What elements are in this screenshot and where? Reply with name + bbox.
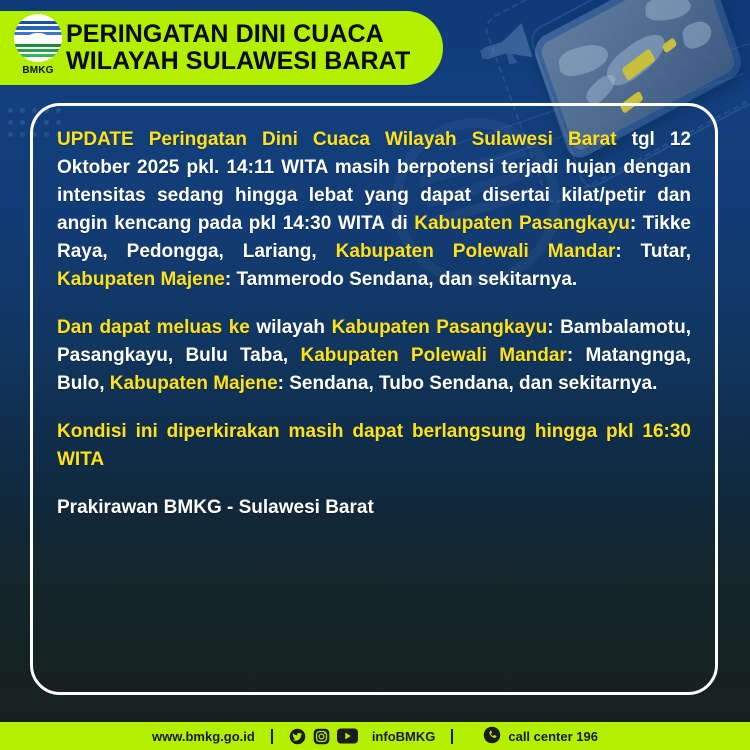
- twitter-icon[interactable]: [289, 728, 306, 745]
- map-shape: [603, 25, 671, 92]
- social-icon-group: [289, 728, 358, 745]
- footer-divider: [271, 729, 273, 744]
- areas-polewali-mandar: : Tutar,: [615, 241, 691, 262]
- instagram-icon[interactable]: [313, 728, 330, 745]
- map-highlight: [621, 48, 655, 81]
- bmkg-logo-text: BMKG: [10, 65, 66, 76]
- duration-note: Kondisi ini diperkirakan masih dapat ber…: [57, 418, 691, 474]
- region-polewali-mandar: Kabupaten Polewali Mandar: [336, 241, 616, 262]
- map-shape: [558, 40, 610, 80]
- call-center-label: call center 196: [508, 729, 598, 744]
- footer-bar: www.bmkg.go.id infoBMKG call center 196: [0, 722, 750, 750]
- warning-paragraph-2: Dan dapat meluas ke wilayah Kabupaten Pa…: [57, 314, 691, 398]
- phone-icon: [483, 726, 501, 747]
- areas-majene-2: : Sendana, Tubo Sendana, dan sekitarnya.: [278, 373, 658, 394]
- region-polewali-mandar-2: Kabupaten Polewali Mandar: [300, 345, 566, 366]
- bmkg-logo: BMKG: [10, 14, 66, 74]
- social-handle[interactable]: infoBMKG: [372, 729, 436, 744]
- page-title-line2: WILAYAH SULAWESI BARAT: [66, 49, 410, 75]
- header-title-group: PERINGATAN DINI CUACA WILAYAH SULAWESI B…: [66, 22, 410, 75]
- warning-headline: UPDATE Peringatan Dini Cuaca Wilayah Sul…: [57, 129, 617, 150]
- map-highlight: [662, 37, 678, 53]
- warning-paragraph-1: UPDATE Peringatan Dini Cuaca Wilayah Sul…: [57, 126, 691, 294]
- region-pasangkayu-2: Kabupaten Pasangkayu: [332, 317, 548, 338]
- region-pasangkayu: Kabupaten Pasangkayu: [414, 213, 630, 234]
- bmkg-logo-icon: [14, 14, 62, 62]
- signature-text: Prakirawan BMKG - Sulawesi Barat: [57, 494, 691, 522]
- region-majene: Kabupaten Majene: [57, 269, 225, 290]
- expansion-headline: Dan dapat meluas ke: [57, 317, 250, 338]
- megaphone-icon: [473, 15, 546, 76]
- page-title-line1: PERINGATAN DINI CUACA: [66, 22, 410, 48]
- poster-canvas: PERINGATAN DINI CUACA WILAYAH SULAWESI B…: [0, 0, 750, 750]
- map-shape: [645, 0, 690, 23]
- youtube-icon[interactable]: [337, 728, 358, 744]
- call-center-info[interactable]: call center 196: [483, 726, 598, 747]
- content-panel: UPDATE Peringatan Dini Cuaca Wilayah Sul…: [30, 103, 718, 695]
- region-majene-2: Kabupaten Majene: [110, 373, 278, 394]
- website-link[interactable]: www.bmkg.go.id: [152, 729, 255, 744]
- areas-majene: : Tammerodo Sendana, dan sekitarnya.: [225, 269, 577, 290]
- footer-divider-2: [451, 729, 453, 744]
- map-shape: [681, 17, 713, 51]
- expansion-text: wilayah: [250, 317, 332, 338]
- header-banner: PERINGATAN DINI CUACA WILAYAH SULAWESI B…: [0, 11, 443, 85]
